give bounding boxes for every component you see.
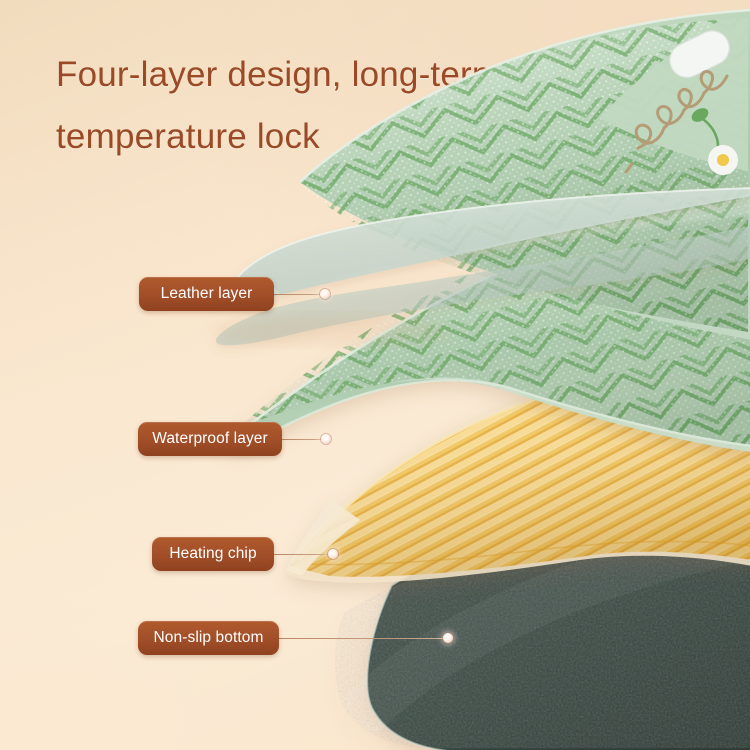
label-waterproof-layer[interactable]: Waterproof layer (138, 422, 282, 456)
product-infographic: Four-layer design, long-termtemperature … (0, 0, 750, 750)
leader-dot-leather (320, 289, 330, 299)
leader-dot-waterproof (321, 434, 331, 444)
leader-line-heating (274, 554, 332, 555)
leader-dot-non-slip (443, 633, 453, 643)
leader-line-non-slip (279, 638, 447, 639)
label-non-slip-bottom[interactable]: Non-slip bottom (138, 621, 279, 655)
leader-line-leather (274, 294, 324, 295)
leader-dot-heating (328, 549, 338, 559)
label-heating-chip[interactable]: Heating chip (152, 537, 274, 571)
label-leather-layer[interactable]: Leather layer (139, 277, 274, 311)
leader-line-waterproof (282, 439, 325, 440)
